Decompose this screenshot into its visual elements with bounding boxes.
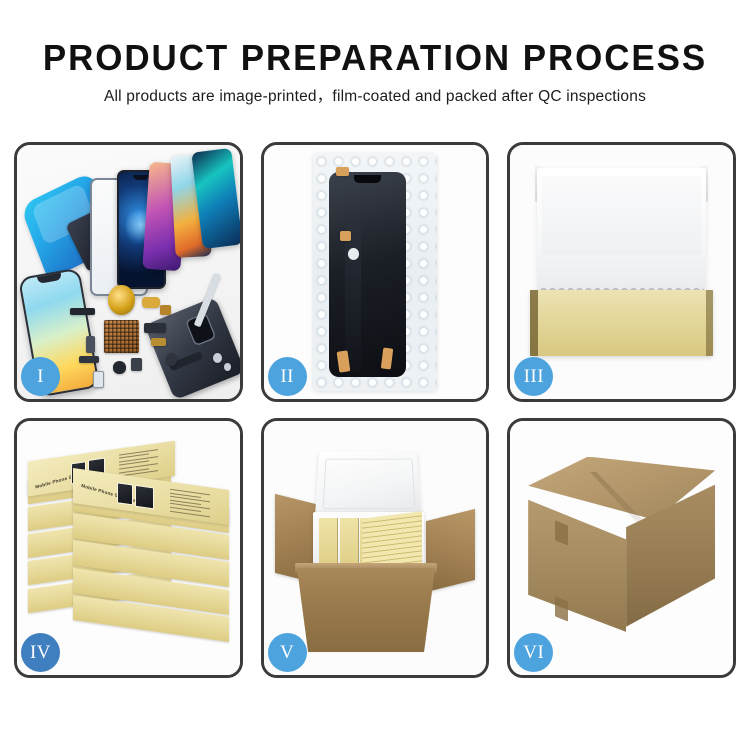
step-badge-label: III — [524, 366, 544, 388]
spare-part-graphic — [144, 323, 166, 333]
spare-part-graphic — [151, 338, 167, 346]
spare-part-graphic — [142, 297, 160, 307]
spare-part-graphic — [93, 371, 104, 388]
step-badge-label: VI — [523, 642, 544, 664]
step-badge-label: I — [37, 366, 44, 388]
retail-box-label-front: Mobile Phone Spare Parts — [81, 483, 143, 505]
box-stack-graphic: Mobile Phone Spare Parts Mobile Phone Sp… — [28, 451, 233, 659]
page-subtitle: All products are image-printed，film-coat… — [0, 87, 750, 106]
product-preparation-infographic: PRODUCT PREPARATION PROCESS All products… — [0, 0, 750, 750]
white-foam-sheet-graphic — [537, 168, 706, 300]
bubble-wrap-bag-graphic — [313, 153, 438, 392]
flex-cable-graphic — [345, 224, 361, 372]
process-step-6[interactable]: VI — [507, 418, 736, 678]
page-title: PRODUCT PREPARATION PROCESS — [11, 38, 739, 78]
process-step-3[interactable]: III — [507, 142, 736, 402]
wireless-coil-graphic — [108, 285, 135, 315]
step-badge-2: II — [268, 357, 307, 396]
process-step-5[interactable]: V — [261, 418, 490, 678]
carton-body-graphic — [297, 568, 435, 652]
box-spec-lines-graphic — [120, 449, 158, 472]
step-badge-label: II — [280, 366, 294, 388]
box-window-graphic — [135, 485, 154, 509]
step-badge-1: I — [21, 357, 60, 396]
spare-part-graphic — [86, 336, 95, 354]
step-badge-4: IV — [21, 633, 60, 672]
process-step-2[interactable]: II — [261, 142, 490, 402]
spare-part-graphic — [70, 308, 94, 316]
box-spec-lines-graphic — [170, 488, 210, 512]
header: PRODUCT PREPARATION PROCESS All products… — [0, 0, 750, 106]
kraft-box-wall-graphic — [530, 290, 713, 356]
logic-board-graphic — [104, 320, 140, 353]
spare-part-graphic — [79, 356, 99, 364]
spare-part-graphic — [131, 358, 142, 371]
tape-graphic — [336, 167, 348, 177]
spare-part-graphic — [160, 305, 171, 315]
process-step-1[interactable]: I — [14, 142, 243, 402]
spare-part-graphic — [224, 363, 231, 371]
process-step-4[interactable]: Mobile Phone Spare Parts Mobile Phone Sp… — [14, 418, 243, 678]
styrofoam-lid-graphic — [315, 451, 422, 520]
spare-part-graphic — [113, 361, 126, 374]
connector-graphic — [348, 248, 359, 260]
box-window-graphic — [117, 481, 133, 504]
tape-graphic — [340, 231, 351, 241]
step-badge-label: V — [280, 642, 294, 664]
step-badge-5: V — [268, 633, 307, 672]
process-step-grid: I II — [14, 142, 736, 678]
carton-left-face-graphic — [528, 500, 626, 632]
step-badge-label: IV — [30, 642, 51, 664]
carton-tape-graphic — [555, 596, 568, 622]
screen-assembly-graphic — [329, 172, 406, 377]
